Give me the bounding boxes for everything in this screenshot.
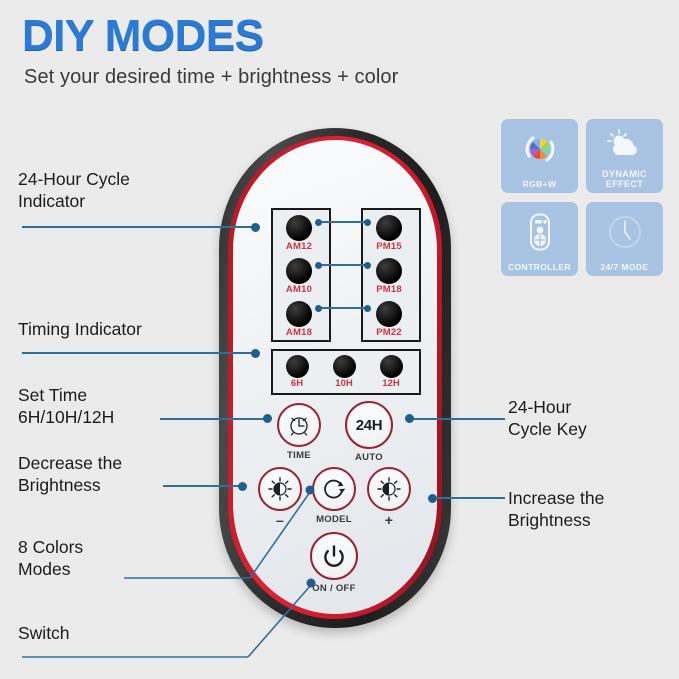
callout-cycle-key: 24-Hour Cycle Key xyxy=(508,396,587,440)
infographic-canvas: DIY MODES Set your desired time + bright… xyxy=(0,0,679,679)
callout-line1: Increase the xyxy=(508,487,604,509)
callout-line1: 24-Hour xyxy=(508,396,587,418)
leader-dot-cycle-key xyxy=(405,414,414,423)
leader-dot-increase-brightness xyxy=(428,494,437,503)
callout-increase-brightness: Increase the Brightness xyxy=(508,487,604,531)
leader-line-cycle-key xyxy=(410,418,505,420)
callout-line2: Brightness xyxy=(508,509,604,531)
callout-line2: Cycle Key xyxy=(508,418,587,440)
leader-line-increase-brightness xyxy=(435,497,505,499)
leader-line-switch xyxy=(0,0,679,679)
